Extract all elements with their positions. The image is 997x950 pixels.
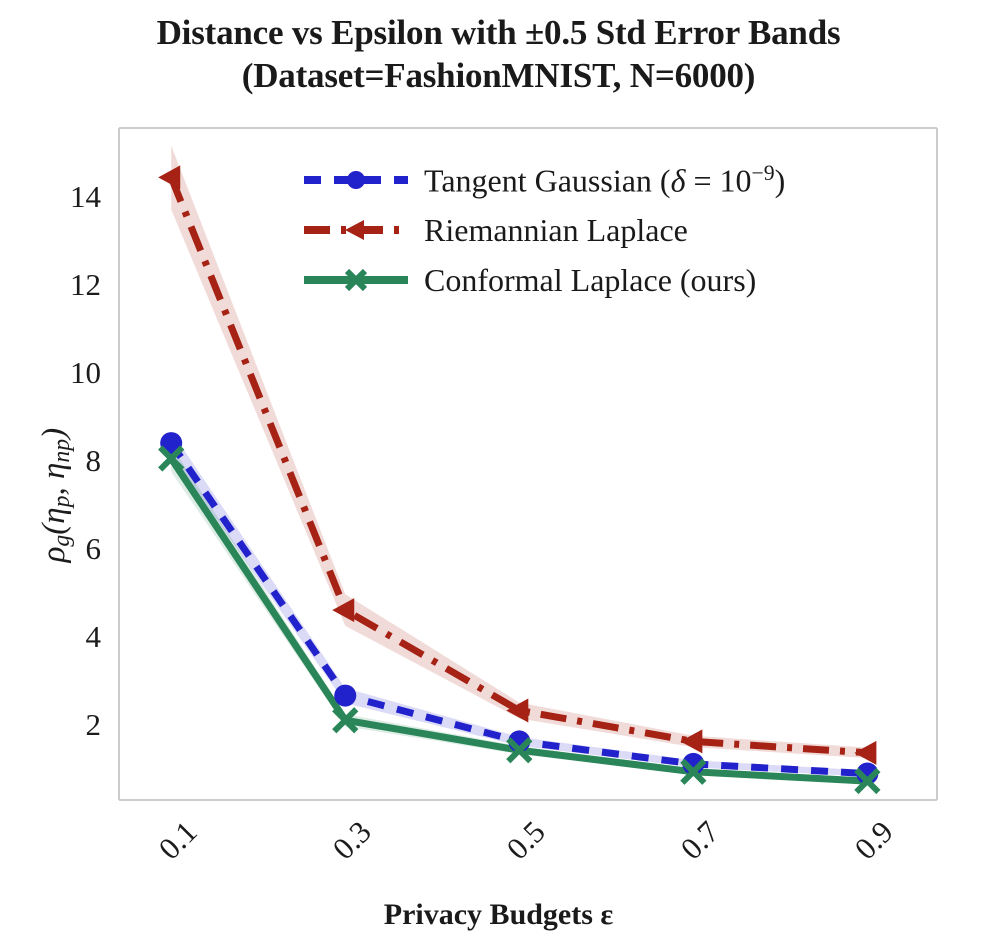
y-tick-label: 4 [41,619,101,655]
legend-item-conformal-laplace[interactable]: Conformal Laplace (ours) [300,258,785,302]
chart-legend: Tangent Gaussian (δ = 10−9) Riemannian L… [300,158,785,302]
x-axis-label: Privacy Budgets ε [0,898,997,932]
chart-page: Distance vs Epsilon with ±0.5 Std Error … [0,0,997,950]
legend-key-tangent-gaussian [300,165,412,195]
y-tick-label: 2 [41,707,101,743]
y-tick-label: 12 [41,267,101,303]
legend-key-riemannian-laplace [300,215,412,245]
legend-key-conformal-laplace [300,265,412,295]
y-axis-label: ρg(ηp, ηnp) [36,365,76,625]
legend-label-conformal-laplace: Conformal Laplace (ours) [412,262,756,299]
legend-item-tangent-gaussian[interactable]: Tangent Gaussian (δ = 10−9) [300,158,785,202]
plot-area [0,0,997,950]
legend-label-riemannian-laplace: Riemannian Laplace [412,212,688,249]
y-tick-label: 10 [41,355,101,391]
legend-label-tangent-gaussian: Tangent Gaussian (δ = 10−9) [412,161,785,199]
y-tick-label: 6 [41,531,101,567]
legend-item-riemannian-laplace[interactable]: Riemannian Laplace [300,208,785,252]
y-tick-label: 8 [41,443,101,479]
y-tick-label: 14 [41,179,101,215]
marker-circle [334,685,356,707]
